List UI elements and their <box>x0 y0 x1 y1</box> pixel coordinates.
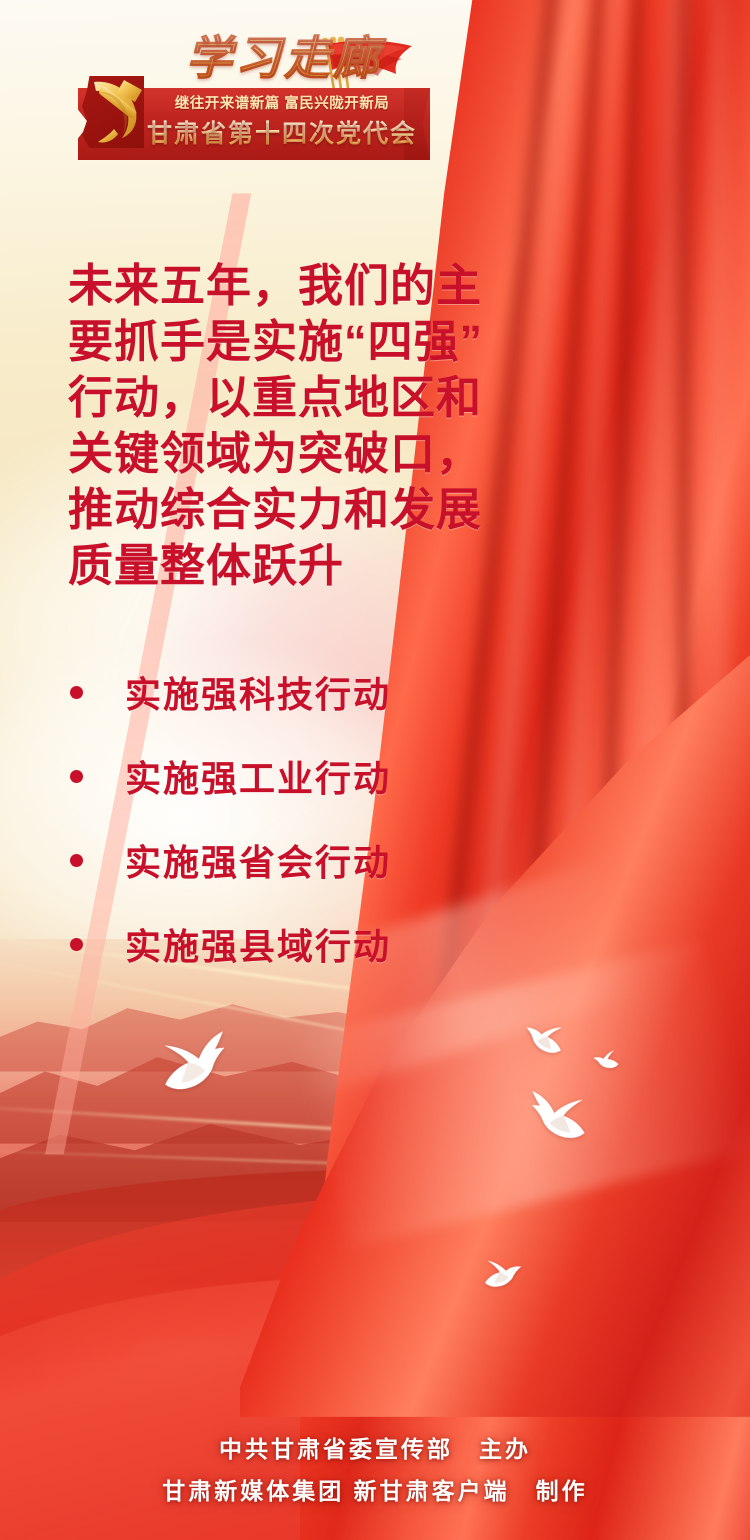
headline-block: 未来五年，我们的主 要抓手是实施“四强” 行动，以重点地区和 关键领域为突破口，… <box>68 258 573 594</box>
list-item: 实施强科技行动 <box>70 658 530 726</box>
footer-line-1: 中共甘肃省委宣传部 主办 <box>0 1428 750 1470</box>
footer-line-2: 甘肃新媒体集团 新甘肃客户端 制作 <box>0 1470 750 1512</box>
banner-main-label: 甘肃省第十四次党代会 <box>146 116 418 152</box>
banner-calligraphy-title: 学习走廊 <box>174 26 394 92</box>
dove-3 <box>587 1046 623 1073</box>
headline-line-5: 推动综合实力和发展 <box>68 482 573 538</box>
dove-4 <box>515 1085 600 1148</box>
list-item-label: 实施强工业行动 <box>125 750 391 802</box>
action-list: 实施强科技行动 实施强工业行动 实施强省会行动 实施强县域行动 <box>70 658 530 994</box>
list-item-label: 实施强科技行动 <box>125 666 391 718</box>
bullet-dot-icon <box>70 770 83 783</box>
headline-line-6: 质量整体跃升 <box>68 538 573 594</box>
party-emblem-icon <box>84 74 150 148</box>
bullet-dot-icon <box>70 854 83 867</box>
dove-5 <box>477 1253 531 1293</box>
headline-line-2: 要抓手是实施“四强” <box>68 314 573 370</box>
bullet-dot-icon <box>70 938 83 951</box>
list-item: 实施强省会行动 <box>70 826 530 894</box>
footer-credits: 中共甘肃省委宣传部 主办 甘肃新媒体集团 新甘肃客户端 制作 <box>0 1428 750 1512</box>
bullet-dot-icon <box>70 686 83 699</box>
headline-line-3: 行动，以重点地区和 <box>68 370 573 426</box>
headline-line-1: 未来五年，我们的主 <box>68 258 573 314</box>
poster-root: 学习走廊 继往开来谱新篇 富民兴陇开新局 甘肃省第十四次党代会 未来五年，我们的… <box>0 0 750 1540</box>
list-item: 实施强县域行动 <box>70 910 530 978</box>
list-item: 实施强工业行动 <box>70 742 530 810</box>
headline-line-4: 关键领域为突破口， <box>68 426 573 482</box>
list-item-label: 实施强县域行动 <box>125 918 391 970</box>
header-banner: 学习走廊 继往开来谱新篇 富民兴陇开新局 甘肃省第十四次党代会 <box>78 32 430 160</box>
list-item-label: 实施强省会行动 <box>125 834 391 886</box>
banner-subtitle: 继往开来谱新篇 富民兴陇开新局 <box>146 92 418 116</box>
